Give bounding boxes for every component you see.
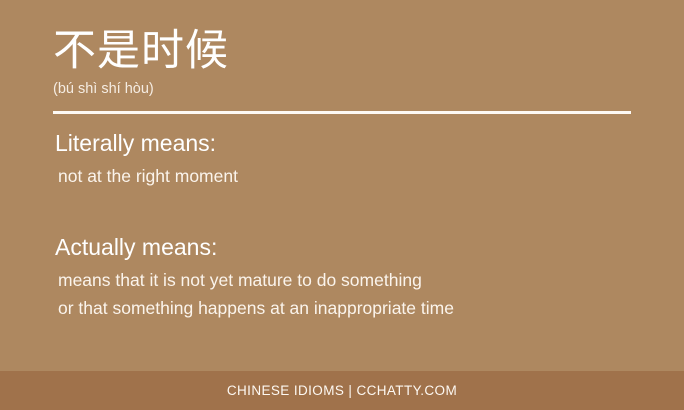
header-divider [53,111,631,114]
section-literal-lines: not at the right moment [55,162,655,190]
section-literal-line-1: not at the right moment [55,162,655,190]
idiom-hanzi-title: 不是时候 [53,26,633,76]
section-literal-title: Literally means: [55,128,655,158]
section-actual-lines: means that it is not yet mature to do so… [55,266,655,322]
section-literal: Literally means: not at the right moment [55,128,655,190]
section-actual-line-1: means that it is not yet mature to do so… [55,266,655,294]
idiom-pinyin: (bú shì shí hòu) [53,79,633,99]
footer-attribution: CHINESE IDIOMS | CCHATTY.COM [227,383,457,398]
section-actual-line-2: or that something happens at an inapprop… [55,294,655,322]
section-actual: Actually means: means that it is not yet… [55,232,655,322]
card-footer: CHINESE IDIOMS | CCHATTY.COM [0,371,684,410]
section-actual-title: Actually means: [55,232,655,262]
idiom-card: 不是时候 (bú shì shí hòu) Literally means: n… [0,0,684,410]
card-header: 不是时候 (bú shì shí hòu) [53,26,633,99]
card-body: Literally means: not at the right moment… [55,128,655,322]
